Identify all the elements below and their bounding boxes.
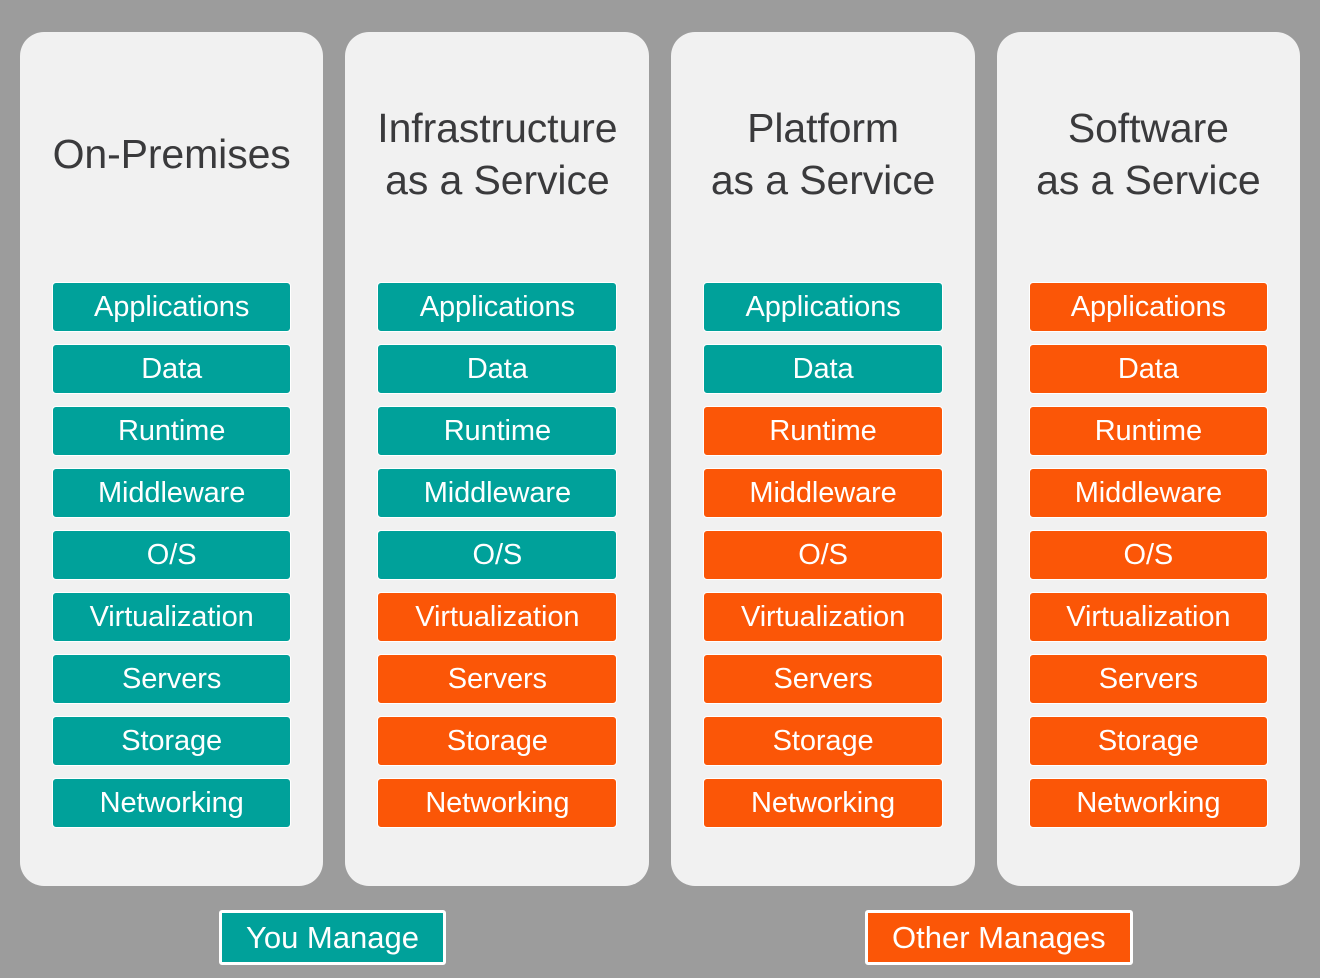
layer-bar-networking[interactable]: Networking	[1029, 778, 1268, 828]
layer-bar-os[interactable]: O/S	[52, 530, 291, 580]
layer-bar-applications[interactable]: Applications	[1029, 282, 1268, 332]
layer-stack-software-as-a-service: Applications Data Runtime Middleware O/S…	[1029, 282, 1268, 828]
layer-bar-applications[interactable]: Applications	[703, 282, 942, 332]
layer-stack-on-premises: Applications Data Runtime Middleware O/S…	[52, 282, 291, 828]
layer-bar-data[interactable]: Data	[1029, 344, 1268, 394]
layer-bar-os[interactable]: O/S	[703, 530, 942, 580]
layer-bar-servers[interactable]: Servers	[377, 654, 617, 704]
layer-bar-servers[interactable]: Servers	[1029, 654, 1268, 704]
service-model-cards: On-Premises Applications Data Runtime Mi…	[20, 32, 1300, 886]
service-model-diagram: On-Premises Applications Data Runtime Mi…	[0, 0, 1320, 978]
layer-bar-storage[interactable]: Storage	[1029, 716, 1268, 766]
layer-bar-servers[interactable]: Servers	[703, 654, 942, 704]
layer-bar-data[interactable]: Data	[52, 344, 291, 394]
layer-bar-applications[interactable]: Applications	[377, 282, 617, 332]
card-heading-software-as-a-service: Software as a Service	[1029, 32, 1268, 282]
layer-bar-middleware[interactable]: Middleware	[377, 468, 617, 518]
layer-stack-platform-as-a-service: Applications Data Runtime Middleware O/S…	[703, 282, 942, 828]
layer-bar-data[interactable]: Data	[377, 344, 617, 394]
layer-bar-runtime[interactable]: Runtime	[377, 406, 617, 456]
layer-bar-networking[interactable]: Networking	[703, 778, 942, 828]
layer-bar-applications[interactable]: Applications	[52, 282, 291, 332]
layer-bar-runtime[interactable]: Runtime	[52, 406, 291, 456]
layer-bar-servers[interactable]: Servers	[52, 654, 291, 704]
layer-bar-storage[interactable]: Storage	[377, 716, 617, 766]
layer-bar-runtime[interactable]: Runtime	[703, 406, 942, 456]
service-model-card-infrastructure-as-a-service[interactable]: Infrastructure as a Service Applications…	[345, 32, 649, 886]
card-heading-platform-as-a-service: Platform as a Service	[703, 32, 942, 282]
service-model-card-software-as-a-service[interactable]: Software as a Service Applications Data …	[997, 32, 1300, 886]
legend: You Manage Other Manages	[0, 908, 1320, 968]
legend-chip-you-manage[interactable]: You Manage	[219, 910, 446, 965]
layer-bar-storage[interactable]: Storage	[52, 716, 291, 766]
layer-bar-networking[interactable]: Networking	[52, 778, 291, 828]
service-model-card-platform-as-a-service[interactable]: Platform as a Service Applications Data …	[671, 32, 974, 886]
layer-bar-middleware[interactable]: Middleware	[1029, 468, 1268, 518]
layer-bar-virtualization[interactable]: Virtualization	[703, 592, 942, 642]
layer-bar-os[interactable]: O/S	[377, 530, 617, 580]
card-heading-on-premises: On-Premises	[52, 32, 291, 282]
layer-bar-virtualization[interactable]: Virtualization	[52, 592, 291, 642]
layer-bar-os[interactable]: O/S	[1029, 530, 1268, 580]
layer-bar-virtualization[interactable]: Virtualization	[1029, 592, 1268, 642]
layer-bar-data[interactable]: Data	[703, 344, 942, 394]
layer-bar-networking[interactable]: Networking	[377, 778, 617, 828]
legend-chip-other-manages[interactable]: Other Manages	[865, 910, 1133, 965]
layer-bar-runtime[interactable]: Runtime	[1029, 406, 1268, 456]
layer-bar-middleware[interactable]: Middleware	[52, 468, 291, 518]
layer-bar-middleware[interactable]: Middleware	[703, 468, 942, 518]
layer-bar-virtualization[interactable]: Virtualization	[377, 592, 617, 642]
layer-bar-storage[interactable]: Storage	[703, 716, 942, 766]
service-model-card-on-premises[interactable]: On-Premises Applications Data Runtime Mi…	[20, 32, 323, 886]
layer-stack-infrastructure-as-a-service: Applications Data Runtime Middleware O/S…	[377, 282, 617, 828]
card-heading-infrastructure-as-a-service: Infrastructure as a Service	[377, 32, 617, 282]
